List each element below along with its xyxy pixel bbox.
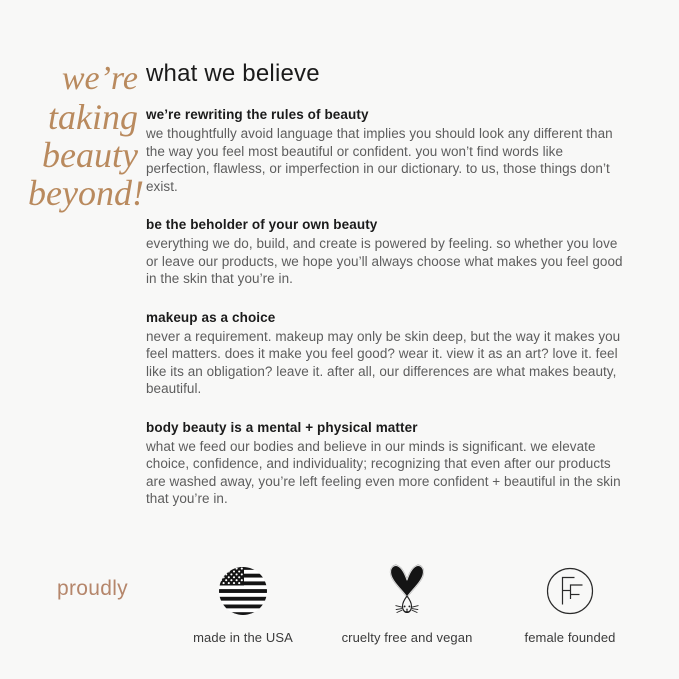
usa-flag-circle-icon [163,562,323,620]
section-body: never a requirement. makeup may only be … [146,328,625,398]
section-body: everything we do, build, and create is p… [146,235,625,288]
ff-monogram-circle-icon [490,562,650,620]
headline-line-2: taking [0,98,138,136]
section-body: we thoughtfully avoid language that impl… [146,125,625,195]
badge-cruelty-free: cruelty free and vegan [327,562,487,646]
badge-caption: female founded [490,630,650,646]
bunny-heart-icon [327,562,487,620]
body-column: what we believe we’re rewriting the rule… [146,60,679,508]
belief-section-4: body beauty is a mental + physical matte… [146,419,625,508]
page-title: what we believe [146,60,625,88]
badge-made-in-usa: made in the USA [163,562,323,646]
section-body: what we feed our bodies and believe in o… [146,438,625,508]
headline-line-1: we’re [0,60,138,98]
belief-section-1: we’re rewriting the rules of beauty we t… [146,106,625,195]
badge-caption: made in the USA [163,630,323,646]
section-heading: be the beholder of your own beauty [146,216,625,234]
headline-line-3: beauty [0,136,138,174]
belief-section-2: be the beholder of your own beauty every… [146,216,625,288]
headline-column: we’re taking beauty beyond! [0,60,146,212]
brand-headline: we’re taking beauty beyond! [0,60,138,212]
badge-female-founded: female founded [490,562,650,646]
belief-statement-page: we’re taking beauty beyond! what we beli… [0,0,679,679]
badge-caption: cruelty free and vegan [327,630,487,646]
section-heading: body beauty is a mental + physical matte… [146,419,625,437]
proudly-label: proudly [57,577,128,601]
headline-line-4: beyond! [0,174,144,212]
content-area: we’re taking beauty beyond! what we beli… [0,60,679,508]
badge-row: proudly [0,562,679,662]
section-heading: we’re rewriting the rules of beauty [146,106,625,124]
belief-section-3: makeup as a choice never a requirement. … [146,309,625,398]
section-heading: makeup as a choice [146,309,625,327]
